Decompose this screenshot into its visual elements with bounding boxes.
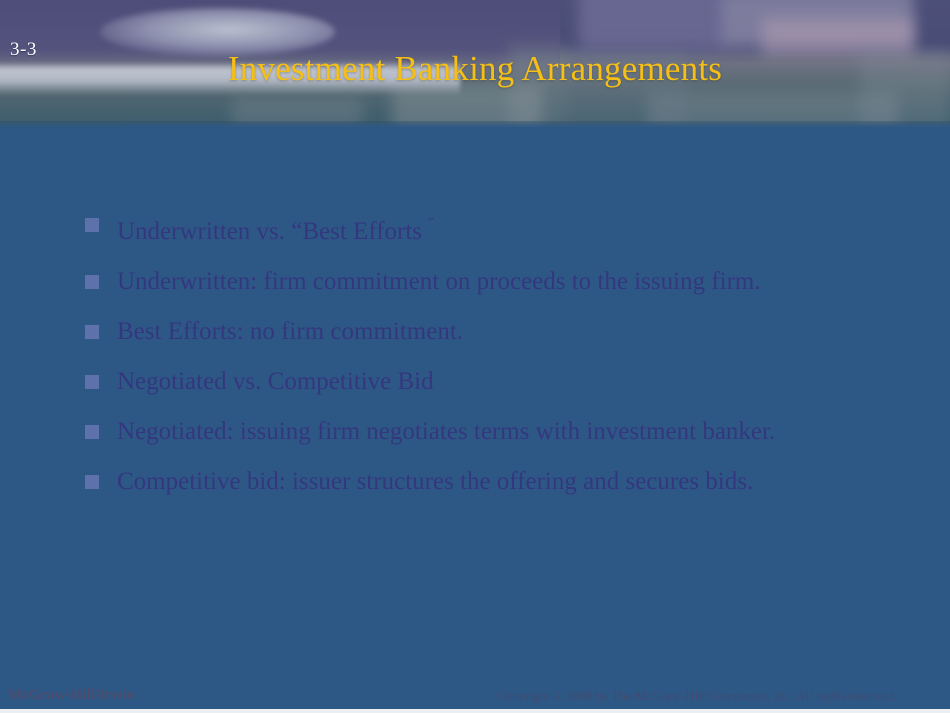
list-item: Underwritten vs. “Best Efforts˝ [84,206,884,251]
list-item-text: Underwritten vs. “Best Efforts [117,218,422,245]
list-item-label: Negotiated: issuing firm negotiates term… [117,413,884,451]
list-item-label: Underwritten: firm commitment on proceed… [117,263,884,301]
footer-divider [0,709,950,713]
list-item-label: Underwritten vs. “Best Efforts˝ [117,206,884,251]
list-item: Negotiated vs. Competitive Bid [84,363,884,401]
list-item-label: Negotiated vs. Competitive Bid [117,363,884,401]
list-item: Competitive bid: issuer structures the o… [84,463,884,501]
closing-quote-glyph: ˝ [422,215,433,234]
bullet-square-icon [85,218,99,232]
footer-copyright: Copyright © 2003 by The McGraw-Hill Comp… [497,687,896,704]
bullet-square-icon [85,475,99,489]
list-item: Negotiated: issuing firm negotiates term… [84,413,884,451]
list-item: Best Efforts: no firm commitment. [84,313,884,351]
list-item-label: Best Efforts: no firm commitment. [117,313,884,351]
bullet-square-icon [85,275,99,289]
footer-publisher: McGraw-Hill/Irwin [8,686,135,704]
slide-body-content: Underwritten vs. “Best Efforts˝ Underwri… [84,206,884,513]
page-title: Investment Banking Arrangements [0,48,950,90]
list-item-label: Competitive bid: issuer structures the o… [117,463,884,501]
list-item: Underwritten: firm commitment on proceed… [84,263,884,301]
bullet-square-icon [85,375,99,389]
bullet-square-icon [85,325,99,339]
bullet-square-icon [85,425,99,439]
presentation-slide: 3-3 Investment Banking Arrangements Unde… [0,0,950,713]
banner-block-1 [578,0,726,50]
banner-bottom-edge [0,121,950,127]
